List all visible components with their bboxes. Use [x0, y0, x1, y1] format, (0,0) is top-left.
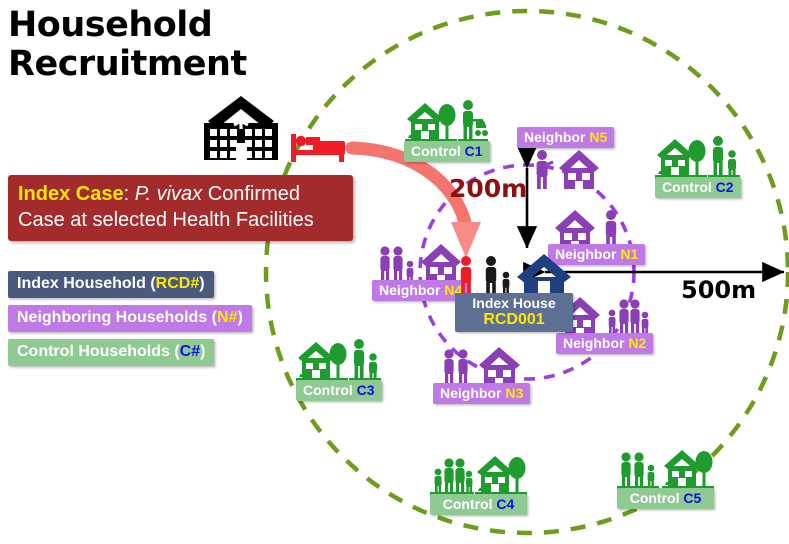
legend-index-close: ) — [199, 275, 204, 292]
index-household-text: Index House — [472, 295, 555, 311]
control-c1-label: Control C1 — [404, 141, 490, 162]
neighbor-n2-code: N2 — [628, 335, 646, 351]
control-c3-text: Control — [303, 382, 357, 398]
legend-index-code: RCD# — [156, 275, 200, 292]
index-case-person-icon — [455, 251, 479, 299]
legend-ctrl-close: ) — [200, 343, 205, 360]
control-c4-code: C4 — [496, 496, 514, 512]
neighbor-n2-text: Neighbor — [563, 335, 628, 351]
adult-child-green-icon — [349, 336, 381, 386]
health-facility-group — [196, 96, 286, 160]
index-case-line-2: Case at selected Health Facilities — [18, 208, 343, 234]
control-c5-code: C5 — [683, 490, 701, 506]
household-control-c4[interactable]: Control C4 — [430, 448, 527, 515]
control-c3-code: C3 — [357, 382, 375, 398]
household-member-icon — [480, 251, 514, 299]
control-c1-art — [404, 95, 490, 147]
diagram-canvas: Household Recruitment — [0, 0, 789, 544]
hospital-bed-icon — [287, 131, 347, 165]
house-purple-icon — [557, 146, 601, 192]
person-purple-icon — [530, 146, 556, 192]
family-group-green-icon — [430, 450, 474, 500]
neighbor-n4-text: Neighbor — [379, 282, 444, 298]
index-case-keyword: Index Case — [18, 183, 124, 205]
adult-child-green-icon — [708, 133, 740, 183]
household-control-c5[interactable]: Control C5 — [617, 442, 714, 509]
hospital-bed-group — [287, 131, 347, 165]
neighbor-n2-label: Neighbor N2 — [556, 333, 653, 354]
legend-neigh-close: ) — [237, 309, 242, 326]
index-household-label: Index HouseRCD001 — [455, 293, 573, 332]
neighbor-n3-text: Neighbor — [440, 385, 505, 401]
legend-item-control-households: Control Households (C#) — [8, 339, 214, 366]
index-case-separator: : — [124, 183, 135, 205]
neighbor-n1-code: N1 — [620, 246, 638, 262]
control-c4-label: Control C4 — [430, 494, 527, 515]
control-c2-label: Control C2 — [655, 177, 741, 198]
control-c3-art — [296, 334, 382, 386]
control-c2-text: Control — [662, 179, 716, 195]
household-control-c1[interactable]: Control C1 — [404, 95, 490, 162]
legend-item-neighboring-households: Neighboring Households (N#) — [8, 305, 252, 332]
household-control-c3[interactable]: Control C3 — [296, 334, 382, 401]
index-case-rest-1: Confirmed — [202, 183, 300, 205]
index-case-line-1: Index Case: P. vivax Confirmed — [18, 182, 343, 208]
control-c4-text: Control — [443, 496, 497, 512]
household-index-rcd001[interactable]: Index HouseRCD001 — [455, 245, 573, 332]
index-household-code: RCD001 — [462, 311, 566, 329]
index-case-species: P. vivax — [135, 183, 202, 205]
house-tree-green-icon — [662, 444, 714, 494]
person-stroller-icon — [458, 97, 488, 147]
house-tree-green-icon — [475, 450, 527, 500]
index-household-art — [455, 245, 573, 299]
household-neighbor-n3[interactable]: Neighbor N3 — [433, 341, 530, 404]
legend-item-index-household: Index Household (RCD#) — [8, 271, 214, 298]
distance-label-500m: 500m — [681, 276, 756, 304]
control-c2-art — [655, 131, 741, 183]
legend-ctrl-text: Control Households ( — [17, 343, 180, 360]
control-c1-code: C1 — [465, 143, 483, 159]
control-c5-text: Control — [630, 490, 684, 506]
household-neighbor-n5[interactable]: Neighbor N5 — [517, 127, 614, 192]
control-c3-label: Control C3 — [296, 380, 382, 401]
control-c4-art — [430, 448, 527, 500]
house-tree-green-icon — [655, 133, 707, 183]
control-c5-art — [617, 442, 714, 494]
distance-label-200m: 200m — [449, 174, 527, 203]
household-control-c2[interactable]: Control C2 — [655, 131, 741, 198]
family-group-green-icon — [617, 444, 661, 494]
house-navy-icon — [515, 251, 573, 299]
control-c5-label: Control C5 — [617, 488, 714, 509]
hospital-icon — [196, 96, 286, 160]
neighbor-n5-text: Neighbor — [524, 129, 589, 145]
index-case-banner: Index Case: P. vivax Confirmed Case at s… — [8, 175, 353, 241]
neighbor-n3-label: Neighbor N3 — [433, 383, 530, 404]
house-tree-green-icon — [405, 97, 457, 147]
neighbor-n5-art — [517, 144, 614, 192]
legend-index-text: Index Household ( — [17, 275, 156, 292]
control-c2-code: C2 — [716, 179, 734, 195]
legend-neigh-text: Neighboring Households ( — [17, 309, 217, 326]
legend-ctrl-code: C# — [180, 343, 200, 360]
neighbor-n3-code: N3 — [505, 385, 523, 401]
neighbor-n3-art — [433, 341, 530, 389]
control-c1-text: Control — [411, 143, 465, 159]
neighbor-n5-code: N5 — [589, 129, 607, 145]
house-tree-green-icon — [296, 336, 348, 386]
legend-neigh-code: N# — [217, 309, 237, 326]
